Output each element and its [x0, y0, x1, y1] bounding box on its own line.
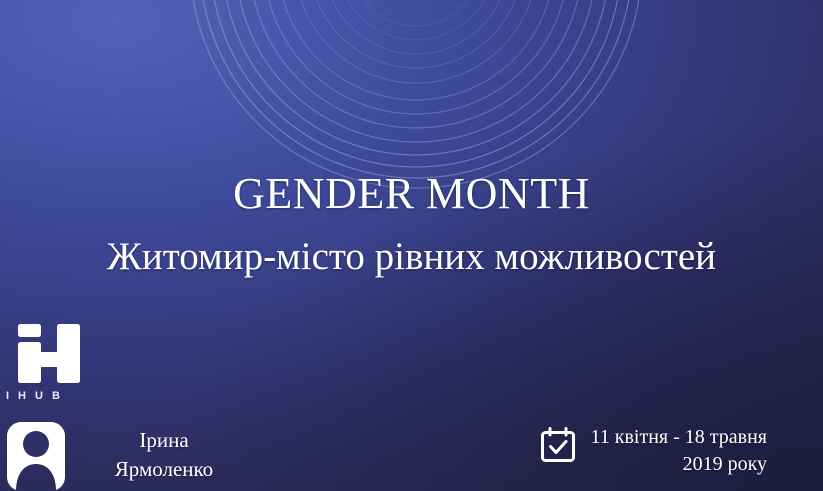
ihub-logo-icon — [2, 316, 88, 386]
speaker-name: Ірина Ярмоленко — [74, 426, 250, 484]
page-subtitle: Житомир-місто рівних можливостей — [0, 234, 823, 280]
date-block: 11 квітня - 18 травня 2019 року — [539, 424, 767, 478]
speaker-last-name: Ярмоленко — [78, 455, 250, 484]
calendar-check-icon — [539, 426, 577, 464]
brand-block: IHUB — [2, 316, 98, 402]
ihub-wordmark: IHUB — [2, 390, 98, 402]
speaker-first-name: Ірина — [78, 426, 250, 455]
page-title: GENDER MONTH — [0, 168, 823, 220]
date-text: 11 квітня - 18 травня 2019 року — [591, 424, 767, 478]
date-range: 11 квітня - 18 травня — [591, 424, 767, 451]
presentation-slide: GENDER MONTH Житомир-місто рівних можлив… — [0, 0, 823, 491]
date-year: 2019 року — [591, 451, 767, 478]
speaker-block: Ірина Ярмоленко — [0, 418, 250, 491]
headline-block: GENDER MONTH Житомир-місто рівних можлив… — [0, 168, 823, 280]
person-avatar-icon — [0, 418, 74, 491]
